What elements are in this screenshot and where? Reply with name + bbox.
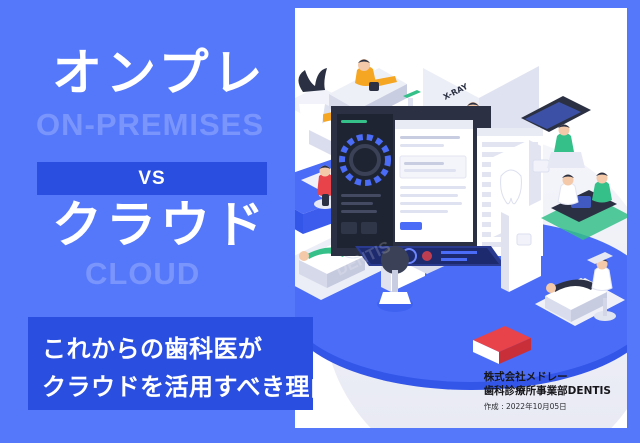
versus-bar: VS — [37, 162, 267, 195]
illustration-panel: X-RAY — [295, 8, 627, 428]
isometric-clinic-illustration: X-RAY — [295, 8, 627, 428]
versus-label: VS — [37, 168, 267, 190]
headline-line-1: これからの歯科医が — [42, 329, 263, 364]
title-cloud-en: CLOUD — [85, 256, 200, 292]
credits-division: 歯科診療所事業部DENTIS — [484, 384, 611, 398]
headline-line-2: クラウドを活用すべき理由 — [42, 367, 334, 402]
credits-created-date: 作成 : 2022年10月05日 — [484, 401, 611, 412]
slide-root: オンプレ ON-PREMISES VS クラウド CLOUD — [0, 0, 640, 443]
credits-block: 株式会社メドレー 歯科診療所事業部DENTIS 作成 : 2022年10月05日 — [484, 370, 611, 412]
title-on-premises-en: ON-PREMISES — [36, 107, 264, 143]
title-on-premises-jp: オンプレ — [52, 46, 267, 100]
headline-box: これからの歯科医が クラウドを活用すべき理由 — [28, 317, 313, 410]
title-cloud-jp: クラウド — [52, 198, 268, 252]
credits-company: 株式会社メドレー — [484, 370, 611, 384]
